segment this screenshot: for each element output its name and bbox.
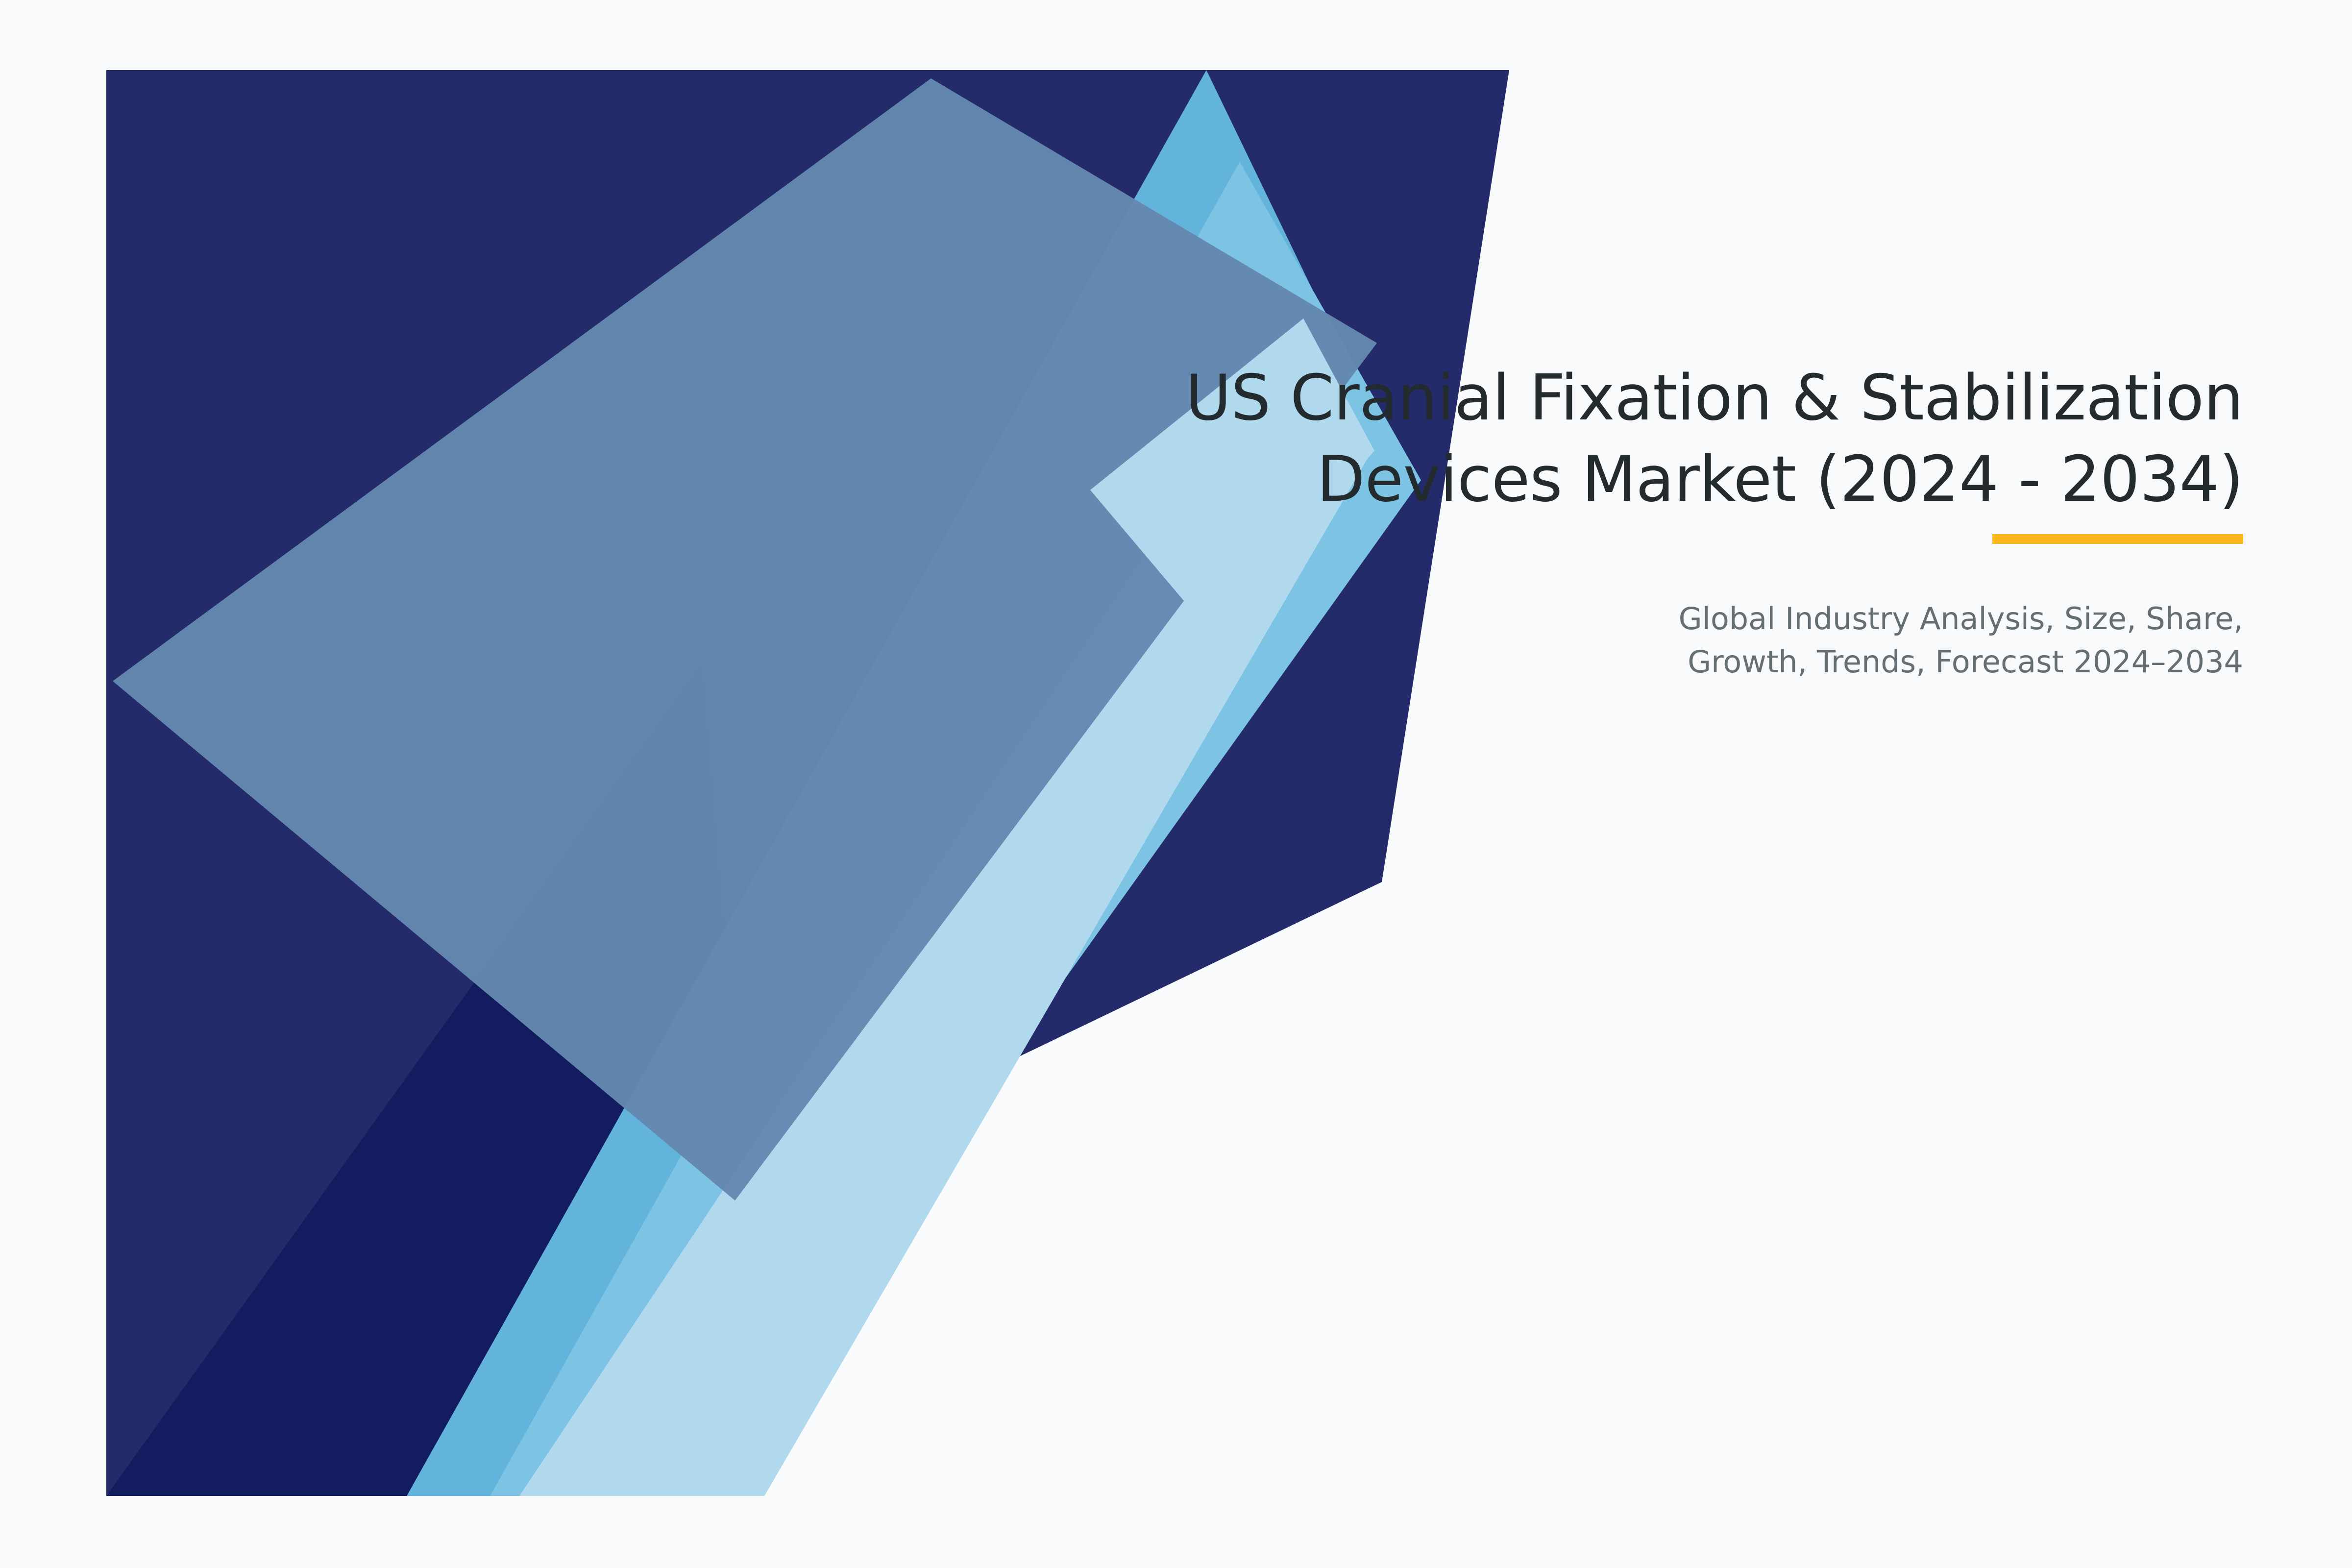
pale-blue-overflow-layer bbox=[0, 0, 2352, 1568]
title-accent-underline bbox=[1992, 534, 2243, 544]
cover-page: US Cranial Fixation & Stabilization Devi… bbox=[0, 0, 2352, 1568]
cover-text-block: US Cranial Fixation & Stabilization Devi… bbox=[735, 358, 2243, 684]
page-subtitle: Global Industry Analysis, Size, Share, G… bbox=[735, 597, 2243, 684]
title-wrapper: US Cranial Fixation & Stabilization Devi… bbox=[735, 358, 2243, 521]
page-title: US Cranial Fixation & Stabilization Devi… bbox=[735, 358, 2243, 521]
